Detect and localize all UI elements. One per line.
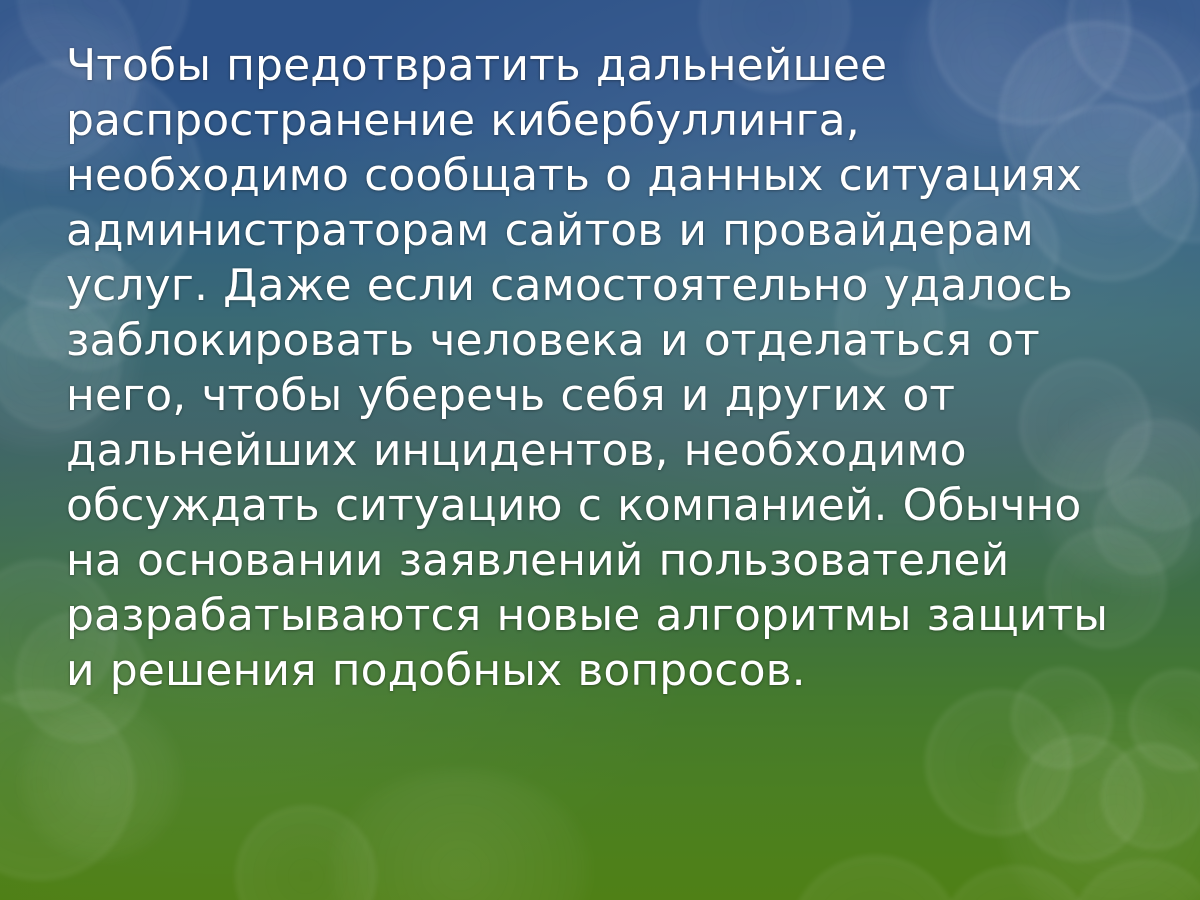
bokeh-circle — [1130, 112, 1200, 242]
bokeh-circle — [1130, 670, 1200, 770]
bokeh-circle — [790, 856, 960, 900]
bokeh-glow — [330, 770, 590, 900]
bokeh-glow — [20, 700, 180, 860]
bokeh-circle — [1018, 736, 1143, 861]
presentation-slide: Чтобы предотвратить дальнейшее распростр… — [0, 0, 1200, 900]
slide-body-text: Чтобы предотвратить дальнейшее распростр… — [66, 38, 1122, 698]
bokeh-circle — [0, 690, 134, 880]
bokeh-circle — [1070, 860, 1200, 900]
bokeh-circle — [1102, 744, 1200, 849]
bokeh-glow — [1000, 700, 1200, 900]
bokeh-circle — [940, 866, 1090, 900]
bokeh-circle — [926, 690, 1071, 835]
bokeh-circle — [236, 806, 376, 900]
